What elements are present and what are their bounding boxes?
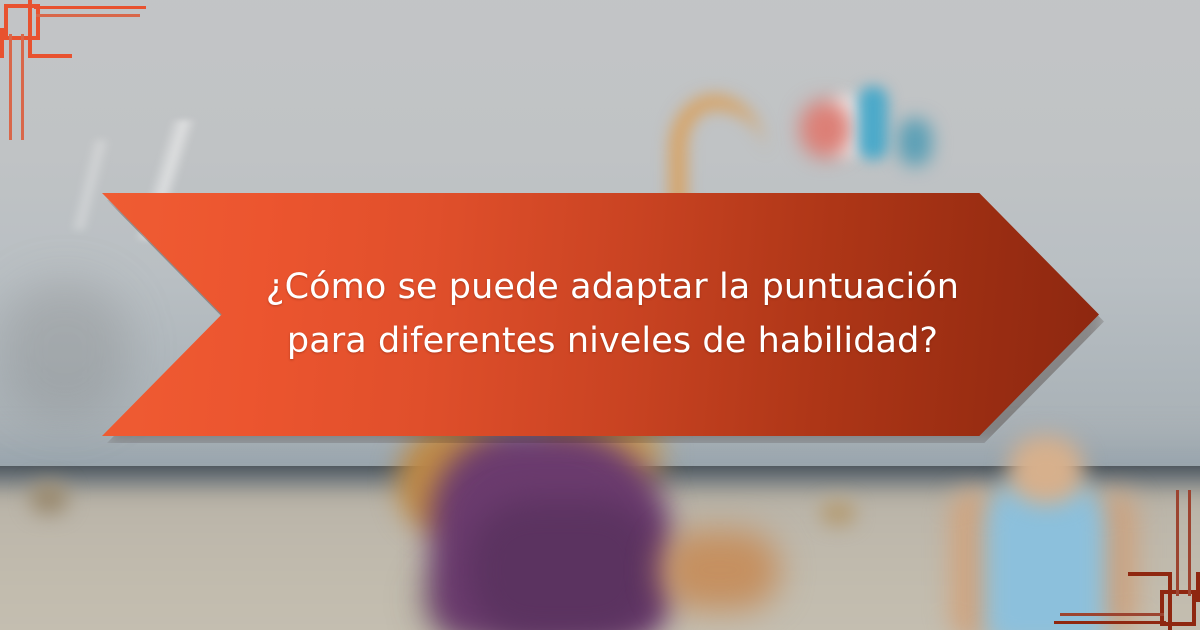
corner-line-vertical-long-second xyxy=(21,34,24,140)
corner-line-horizontal-second xyxy=(1060,613,1164,616)
player-arm-blur xyxy=(660,530,780,610)
ribbon-body: ¿Cómo se puede adaptar la puntuación par… xyxy=(102,193,1099,436)
share-card: ¿Cómo se puede adaptar la puntuación par… xyxy=(0,0,1200,630)
corner-frame-bottom-right xyxy=(1020,450,1200,630)
headline-ribbon: ¿Cómo se puede adaptar la puntuación par… xyxy=(102,193,1099,436)
ball-blue-secondary-blur xyxy=(898,118,932,166)
corner-line-vertical-long xyxy=(9,34,12,140)
headline-text: ¿Cómo se puede adaptar la puntuación par… xyxy=(209,261,993,367)
corner-line-horizontal-top xyxy=(34,6,146,9)
corner-line-vertical-long-second xyxy=(1176,490,1179,596)
corner-line-vertical-short xyxy=(1168,572,1172,630)
player-purple-lower-blur xyxy=(468,500,658,630)
corner-line-vertical-edge xyxy=(1196,572,1200,602)
sand-detail-secondary-blur xyxy=(30,482,68,514)
corner-line-vertical-edge xyxy=(0,28,4,58)
corner-line-vertical-long xyxy=(1188,490,1191,596)
corner-line-vertical-short xyxy=(28,0,32,58)
corner-line-horizontal-over xyxy=(1128,572,1172,576)
ball-blue-blur xyxy=(858,86,888,160)
corner-frame-top-left xyxy=(0,0,180,180)
ball-red-blur xyxy=(800,100,852,158)
sand-detail-blur xyxy=(820,500,856,526)
corner-line-horizontal-under xyxy=(28,54,72,58)
corner-line-horizontal-bottom xyxy=(1054,621,1166,624)
corner-line-horizontal-second xyxy=(36,14,140,17)
